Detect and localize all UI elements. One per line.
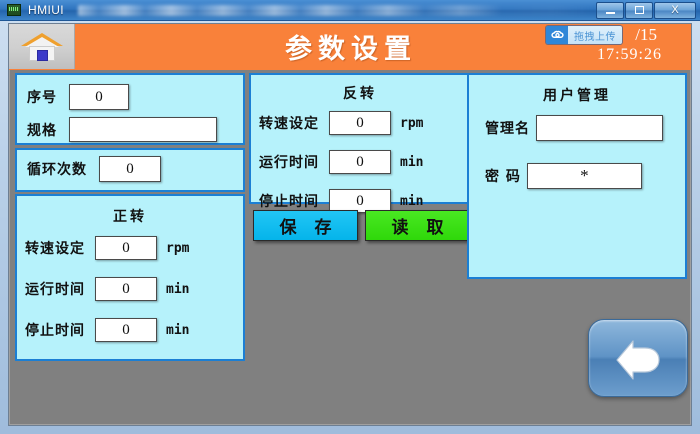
minimize-icon xyxy=(606,12,615,14)
panel-user-title: 用户管理 xyxy=(469,85,685,105)
panel-reverse-title: 反转 xyxy=(251,83,469,103)
field-forward-speed: 转速设定 0 rpm xyxy=(25,236,189,260)
admin-name-input[interactable] xyxy=(536,115,663,141)
field-admin-name: 管理名 xyxy=(485,115,663,141)
clock: 17:59:26 xyxy=(597,46,662,64)
home-button[interactable] xyxy=(9,24,75,69)
save-button[interactable]: 保 存 xyxy=(253,210,358,241)
forward-stoptime-unit: min xyxy=(166,323,189,338)
field-serial: 序号 0 xyxy=(27,84,129,110)
page-count: /15 xyxy=(635,25,657,45)
forward-stoptime-input[interactable]: 0 xyxy=(95,318,157,342)
maximize-icon xyxy=(635,6,644,14)
reverse-runtime-input[interactable]: 0 xyxy=(329,150,391,174)
forward-speed-unit: rpm xyxy=(166,241,189,256)
panel-cycle-count: 循环次数 0 xyxy=(15,148,245,192)
blurred-path-region xyxy=(78,5,595,16)
password-input[interactable]: * xyxy=(527,163,642,189)
drag-upload-button[interactable]: 拖拽上传 xyxy=(546,26,622,44)
serial-input[interactable]: 0 xyxy=(69,84,129,110)
field-cycle-count: 循环次数 0 xyxy=(27,156,161,182)
window-title: HMIUI xyxy=(28,3,64,17)
cloud-upload-icon xyxy=(546,26,568,44)
window-controls: X xyxy=(595,2,696,19)
panel-basic-info: 序号 0 规格 xyxy=(15,73,245,145)
reverse-stoptime-unit: min xyxy=(400,194,423,209)
app-header: 参数设置 拖拽上传 /15 17:59:26 xyxy=(9,24,692,70)
panel-reverse-rotation: 反转 转速设定 0 rpm 运行时间 0 min 停止时间 0 min xyxy=(249,73,471,204)
minimize-button[interactable] xyxy=(596,2,624,19)
back-button[interactable] xyxy=(588,319,688,397)
field-reverse-stoptime-label: 停止时间 xyxy=(259,191,319,211)
field-reverse-runtime-label: 运行时间 xyxy=(259,152,319,172)
home-icon xyxy=(21,33,63,61)
field-reverse-runtime: 运行时间 0 min xyxy=(259,150,423,174)
field-password-label: 密 码 xyxy=(485,166,521,186)
window-titlebar[interactable]: HMIUI X xyxy=(0,0,700,21)
spec-input[interactable] xyxy=(69,117,217,142)
read-button[interactable]: 读 取 xyxy=(365,210,470,241)
os-window: HMIUI X 参数设置 xyxy=(0,0,700,434)
panel-forward-title: 正转 xyxy=(17,206,243,226)
panel-user-management: 用户管理 管理名 密 码 * xyxy=(467,73,687,279)
field-spec: 规格 xyxy=(27,117,217,142)
field-spec-label: 规格 xyxy=(27,120,57,140)
reverse-speed-unit: rpm xyxy=(400,116,423,131)
app-monitor-icon xyxy=(7,4,21,16)
field-forward-runtime: 运行时间 0 min xyxy=(25,277,189,301)
forward-runtime-input[interactable]: 0 xyxy=(95,277,157,301)
close-button[interactable]: X xyxy=(654,2,696,19)
cycle-count-input[interactable]: 0 xyxy=(99,156,161,182)
field-forward-speed-label: 转速设定 xyxy=(25,238,85,258)
maximize-button[interactable] xyxy=(625,2,653,19)
field-forward-stoptime: 停止时间 0 min xyxy=(25,318,189,342)
field-forward-runtime-label: 运行时间 xyxy=(25,279,85,299)
app-client-area: 参数设置 拖拽上传 /15 17:59:26 序号 0 规格 xyxy=(8,23,692,426)
drag-upload-label: 拖拽上传 xyxy=(568,26,622,44)
field-password: 密 码 * xyxy=(485,163,642,189)
reverse-speed-input[interactable]: 0 xyxy=(329,111,391,135)
reverse-runtime-unit: min xyxy=(400,155,423,170)
field-reverse-speed: 转速设定 0 rpm xyxy=(259,111,423,135)
field-reverse-speed-label: 转速设定 xyxy=(259,113,319,133)
panel-forward-rotation: 正转 转速设定 0 rpm 运行时间 0 min 停止时间 0 min xyxy=(15,194,245,361)
field-forward-stoptime-label: 停止时间 xyxy=(25,320,85,340)
forward-speed-input[interactable]: 0 xyxy=(95,236,157,260)
field-admin-name-label: 管理名 xyxy=(485,118,530,138)
field-serial-label: 序号 xyxy=(27,87,57,107)
field-cycle-count-label: 循环次数 xyxy=(27,159,87,179)
back-arrow-icon xyxy=(607,335,669,381)
forward-runtime-unit: min xyxy=(166,282,189,297)
